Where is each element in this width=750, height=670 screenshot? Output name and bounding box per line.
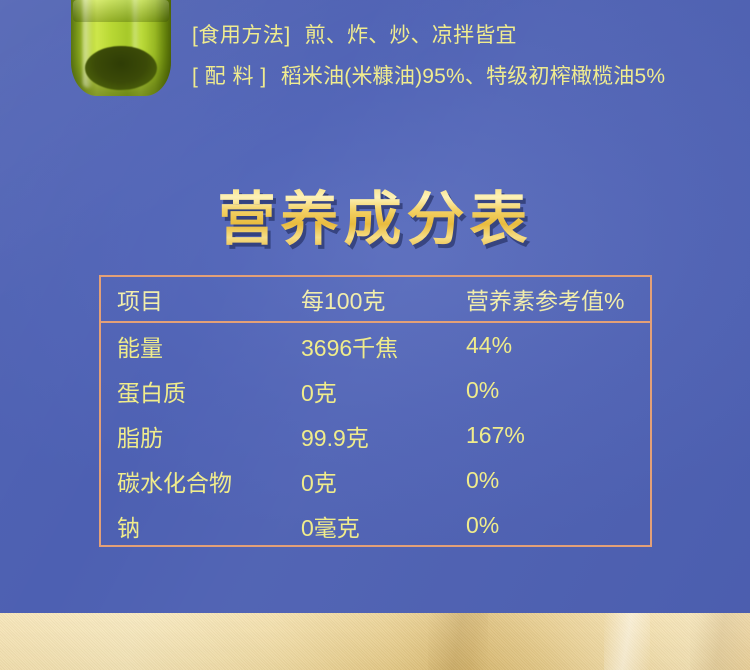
cell-item: 钠 bbox=[101, 509, 301, 543]
cell-per100g: 0克 bbox=[301, 464, 466, 498]
cell-nrv: 0% bbox=[466, 512, 648, 539]
cell-per100g: 0克 bbox=[301, 374, 466, 408]
cell-nrv: 167% bbox=[466, 422, 648, 449]
cell-nrv: 0% bbox=[466, 377, 648, 404]
table-row: 蛋白质 0克 0% bbox=[101, 368, 650, 413]
table-row: 脂肪 99.9克 167% bbox=[101, 413, 650, 458]
page-title: 营养成分表 bbox=[0, 172, 750, 256]
table-header-row: 项目 每100克 营养素参考值% bbox=[101, 277, 650, 323]
usage-label: [食用方法] bbox=[192, 24, 291, 47]
header-nrv: 营养素参考值% bbox=[466, 282, 648, 316]
bottle-base-shadow bbox=[85, 46, 157, 90]
header-per100g: 每100克 bbox=[301, 282, 466, 316]
cell-per100g: 99.9克 bbox=[301, 419, 466, 453]
gold-silk-band bbox=[0, 613, 750, 670]
header-item: 项目 bbox=[101, 282, 301, 316]
table-row: 钠 0毫克 0% bbox=[101, 503, 650, 548]
bottle-waist-groove bbox=[73, 0, 169, 22]
cell-item: 蛋白质 bbox=[101, 374, 301, 408]
cell-per100g: 0毫克 bbox=[301, 509, 466, 543]
nutrition-facts-table: 项目 每100克 营养素参考值% 能量 3696千焦 44% 蛋白质 0克 0%… bbox=[99, 275, 652, 547]
ingredients-label: [ 配 料 ] bbox=[192, 65, 267, 88]
cell-nrv: 44% bbox=[466, 332, 648, 359]
table-row: 碳水化合物 0克 0% bbox=[101, 458, 650, 503]
cell-nrv: 0% bbox=[466, 467, 648, 494]
usage-value: 煎、炸、炒、凉拌皆宜 bbox=[305, 24, 517, 47]
cell-item: 能量 bbox=[101, 329, 301, 363]
cell-item: 脂肪 bbox=[101, 419, 301, 453]
cell-item: 碳水化合物 bbox=[101, 464, 301, 498]
usage-description-line: [食用方法]煎、炸、炒、凉拌皆宜 bbox=[192, 19, 517, 49]
oil-bottle-image: 净含量 508毫升 稻米油 特级初榨橄榄油 bbox=[71, 0, 171, 96]
ingredients-value: 稻米油(米糠油)95%、特级初榨橄榄油5% bbox=[281, 65, 666, 88]
ingredients-description-line: [ 配 料 ]稻米油(米糠油)95%、特级初榨橄榄油5% bbox=[192, 60, 665, 90]
product-detail-page: 净含量 508毫升 稻米油 特级初榨橄榄油 [食用方法]煎、炸、炒、凉拌皆宜 [… bbox=[0, 0, 750, 670]
table-row: 能量 3696千焦 44% bbox=[101, 323, 650, 368]
cell-per100g: 3696千焦 bbox=[301, 329, 466, 363]
